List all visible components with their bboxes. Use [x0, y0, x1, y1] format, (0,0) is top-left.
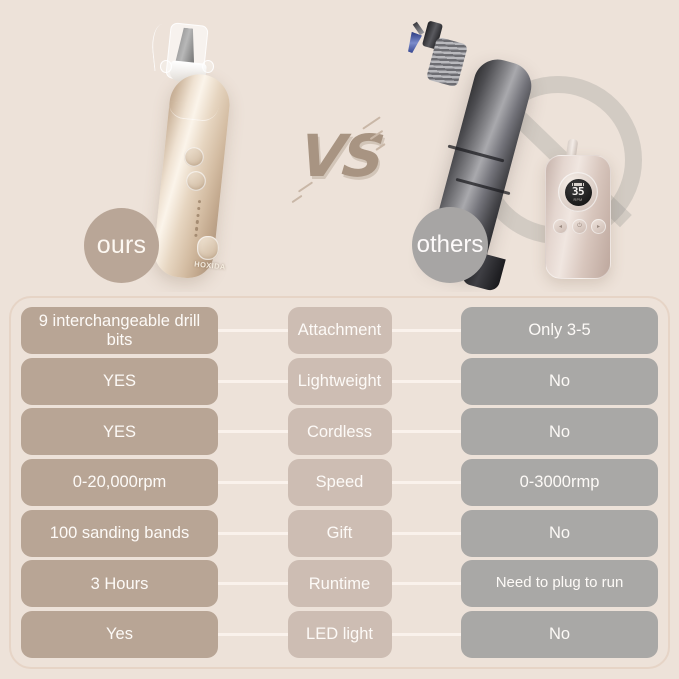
table-row: 3 Hours Runtime Need to plug to run [21, 560, 658, 607]
others-display-unit: RPM [574, 198, 583, 202]
row-connector-left [218, 633, 288, 636]
feature-label-cell: Lightweight [288, 358, 392, 405]
ours-collar-wing-right [202, 60, 214, 73]
table-row: 0-20,000rpm Speed 0-3000rmp [21, 459, 658, 506]
others-power-button-icon: ⏻ [572, 219, 587, 234]
table-row: YES Lightweight No [21, 358, 658, 405]
ours-power-button [184, 147, 204, 167]
row-connector-right [392, 329, 462, 332]
row-connector-left [218, 430, 288, 433]
ours-mode-button [186, 171, 206, 191]
badge-ours-label: ours [97, 231, 146, 260]
others-value-cell: Need to plug to run [461, 560, 658, 607]
table-row: 9 interchangeable drill bits Attachment … [21, 307, 658, 354]
feature-label-cell: Gift [288, 510, 392, 557]
ours-value-cell: 0-20,000rpm [21, 459, 218, 506]
feature-label-cell: Runtime [288, 560, 392, 607]
ours-product-image: HOXIDA [146, 8, 242, 286]
row-connector-left [218, 481, 288, 484]
row-connector-left [218, 582, 288, 585]
badge-others-label: others [417, 231, 484, 259]
ours-collar-wing-left [160, 60, 172, 73]
feature-label-cell: LED light [288, 611, 392, 658]
ours-value-cell: YES [21, 408, 218, 455]
row-connector-left [218, 532, 288, 535]
ours-value-cell: Yes [21, 611, 218, 658]
row-connector-left [218, 329, 288, 332]
others-control-display: 35 RPM [565, 179, 592, 206]
row-connector-right [392, 380, 462, 383]
others-value-cell: Only 3-5 [461, 307, 658, 354]
others-control-dial: 35 RPM [558, 172, 598, 212]
others-display-value: 35 [572, 186, 584, 197]
ours-value-cell: 3 Hours [21, 560, 218, 607]
table-row: YES Cordless No [21, 408, 658, 455]
badge-others: others [412, 207, 488, 283]
row-connector-right [392, 532, 462, 535]
others-value-cell: No [461, 510, 658, 557]
ours-value-cell: YES [21, 358, 218, 405]
others-value-cell: No [461, 408, 658, 455]
row-connector-left [218, 380, 288, 383]
ours-value-cell: 100 sanding bands [21, 510, 218, 557]
comparison-table: 9 interchangeable drill bits Attachment … [9, 296, 670, 669]
others-control-buttons: ◂ ⏻ ▸ [553, 219, 606, 234]
hero-section: HOXIDA ours VS [0, 0, 679, 292]
badge-ours: ours [84, 208, 159, 283]
others-forward-button-icon: ▸ [591, 219, 606, 234]
feature-label-cell: Speed [288, 459, 392, 506]
table-row: Yes LED light No [21, 611, 658, 658]
feature-label-cell: Attachment [288, 307, 392, 354]
others-value-cell: No [461, 611, 658, 658]
ours-value-cell: 9 interchangeable drill bits [21, 307, 218, 354]
table-row: 100 sanding bands Gift No [21, 510, 658, 557]
row-connector-right [392, 430, 462, 433]
product-comparison-page: HOXIDA ours VS [0, 0, 679, 679]
others-value-cell: 0-3000rmp [461, 459, 658, 506]
versus-graphic: VS [289, 108, 393, 204]
comparison-rows: 9 interchangeable drill bits Attachment … [21, 307, 658, 658]
row-connector-right [392, 633, 462, 636]
feature-label-cell: Cordless [288, 408, 392, 455]
row-connector-right [392, 582, 462, 585]
others-value-cell: No [461, 358, 658, 405]
ours-bottom-button [197, 236, 219, 260]
row-connector-right [392, 481, 462, 484]
others-reverse-button-icon: ◂ [553, 219, 568, 234]
